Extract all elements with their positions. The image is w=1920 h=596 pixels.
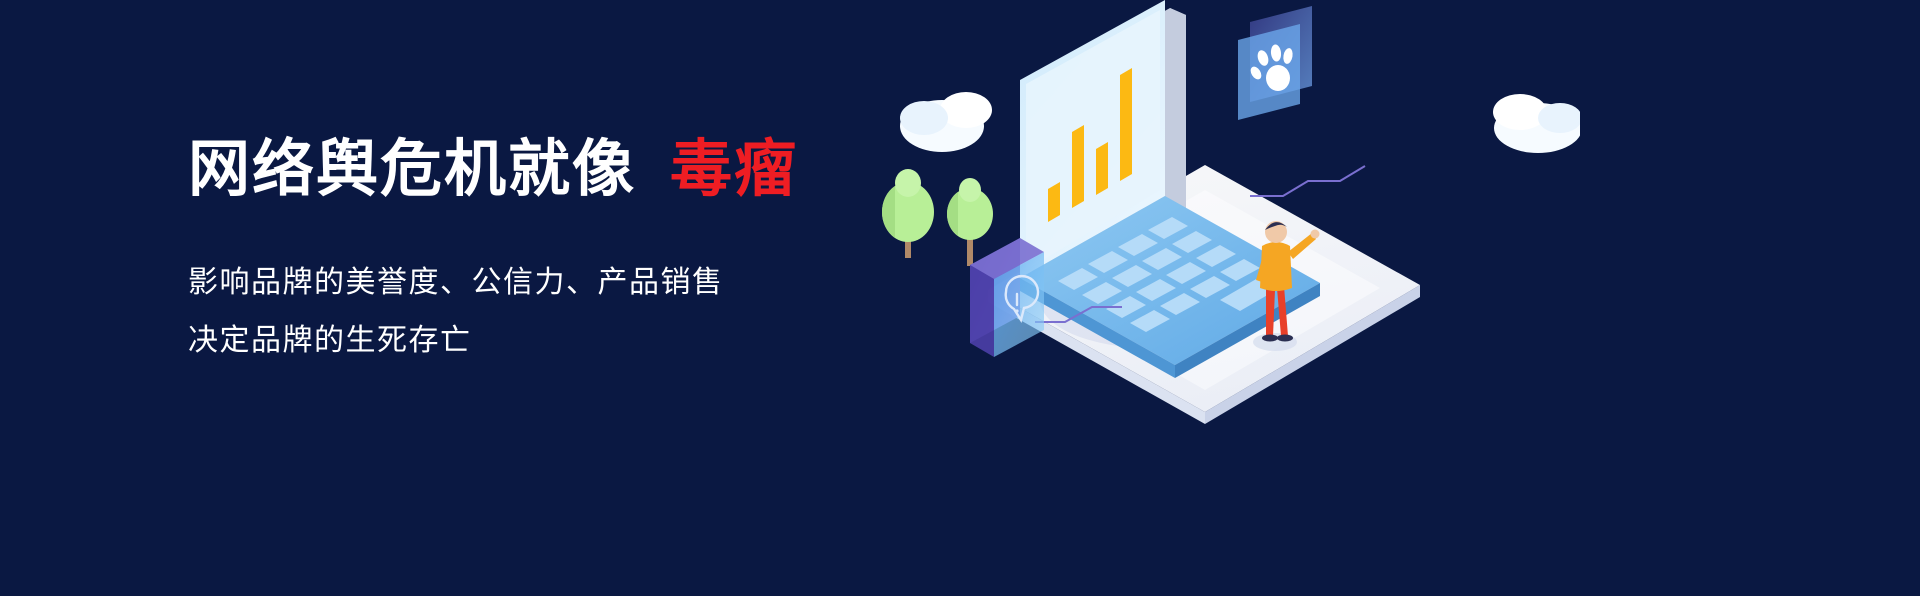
- tree-left-icon: [882, 169, 934, 258]
- bar-1: [1048, 182, 1060, 222]
- cloud-right-icon: [1493, 94, 1580, 153]
- person-shoe-right: [1277, 335, 1293, 342]
- bar-3: [1096, 142, 1108, 195]
- bar-4: [1120, 68, 1132, 181]
- baidu-paw-panel: [1238, 6, 1312, 120]
- headline-main-text: 网络舆危机就像: [188, 139, 636, 201]
- hero-illustration: [820, 0, 1580, 596]
- hero-banner: 网络舆危机就像 毒瘤 影响品牌的美誉度、公信力、产品销售 决定品牌的生死存亡: [0, 0, 1920, 596]
- person-hand: [1311, 230, 1320, 239]
- hero-text-block: 网络舆危机就像 毒瘤: [188, 130, 908, 210]
- page-title: 网络舆危机就像 毒瘤: [188, 130, 908, 210]
- bar-2: [1072, 125, 1084, 208]
- person-shoe-left: [1262, 335, 1278, 342]
- tree-right-icon: [947, 178, 993, 266]
- headline-accent-text: 毒瘤: [670, 139, 798, 201]
- cloud-left-icon: [900, 92, 992, 152]
- alert-panel: [970, 238, 1044, 357]
